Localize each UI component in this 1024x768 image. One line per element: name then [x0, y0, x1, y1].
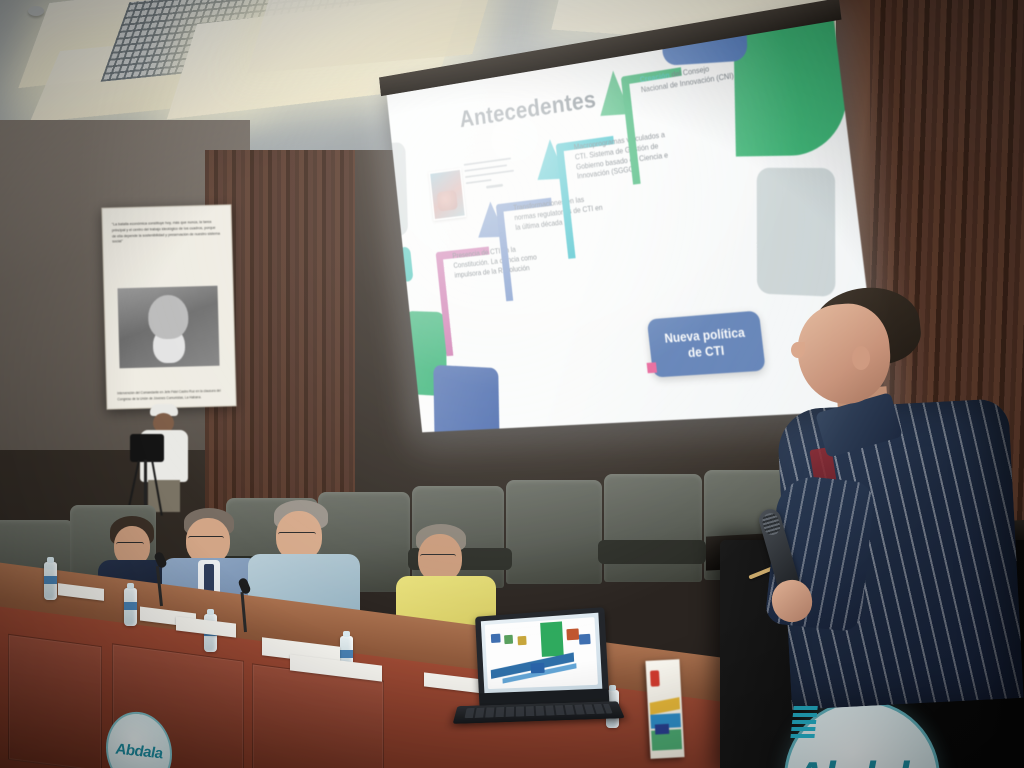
slide-callout-box: Nueva políticade CTI [647, 310, 766, 377]
poster-quote-text: "La batalla económica constituye hoy, má… [112, 220, 221, 246]
laptop[interactable] [452, 612, 622, 732]
chair-armrest [598, 540, 706, 564]
ceiling-light-panel [247, 0, 497, 73]
wall-poster: "La batalla económica constituye hoy, má… [101, 204, 236, 409]
brochure [645, 659, 684, 759]
laptop-base [453, 701, 625, 724]
panelist-3 [254, 500, 358, 612]
video-camera-icon [130, 434, 164, 462]
speaker-ear [852, 346, 870, 370]
speaker-presenter [760, 280, 1024, 700]
conference-photo-scene: Antecedentes Presencia de CTI en la Cons… [0, 0, 1024, 768]
table-abdala-logo-text: Abdala [115, 740, 162, 762]
timeline-label-green: Creación del Consejo Nacional de Innovac… [639, 60, 738, 95]
chair [506, 480, 602, 584]
laptop-lid [475, 607, 609, 706]
laptop-screen[interactable] [481, 613, 603, 693]
smoke-detector-icon [28, 6, 44, 16]
water-bottle [44, 562, 57, 600]
slide-handwriting-lines [464, 157, 522, 205]
slide-photo-thumbnail [429, 168, 467, 221]
slide-decor-blue-left [433, 365, 499, 433]
table-front-panel [8, 634, 102, 768]
slide-callout-accent-square [647, 362, 657, 373]
poster-portrait-photo [117, 286, 219, 369]
laptop-slide-thumbnail [481, 613, 603, 693]
slide-decor-gray [757, 168, 836, 297]
chair [604, 474, 702, 582]
slide-callout-text: Nueva políticade CTI [664, 325, 748, 363]
laptop-keyboard[interactable] [464, 704, 612, 718]
slide-title: Antecedentes [458, 85, 597, 134]
podium-abdala-logo-text: Abdala [793, 753, 931, 768]
timeline-item-green: Creación del Consejo Nacional de Innovac… [621, 57, 756, 176]
speaker-nose [791, 342, 805, 358]
poster-caption-text: Intervención del Comandante en Jefe Fide… [117, 389, 223, 403]
cameraman [126, 404, 212, 516]
water-bottle [124, 588, 137, 626]
